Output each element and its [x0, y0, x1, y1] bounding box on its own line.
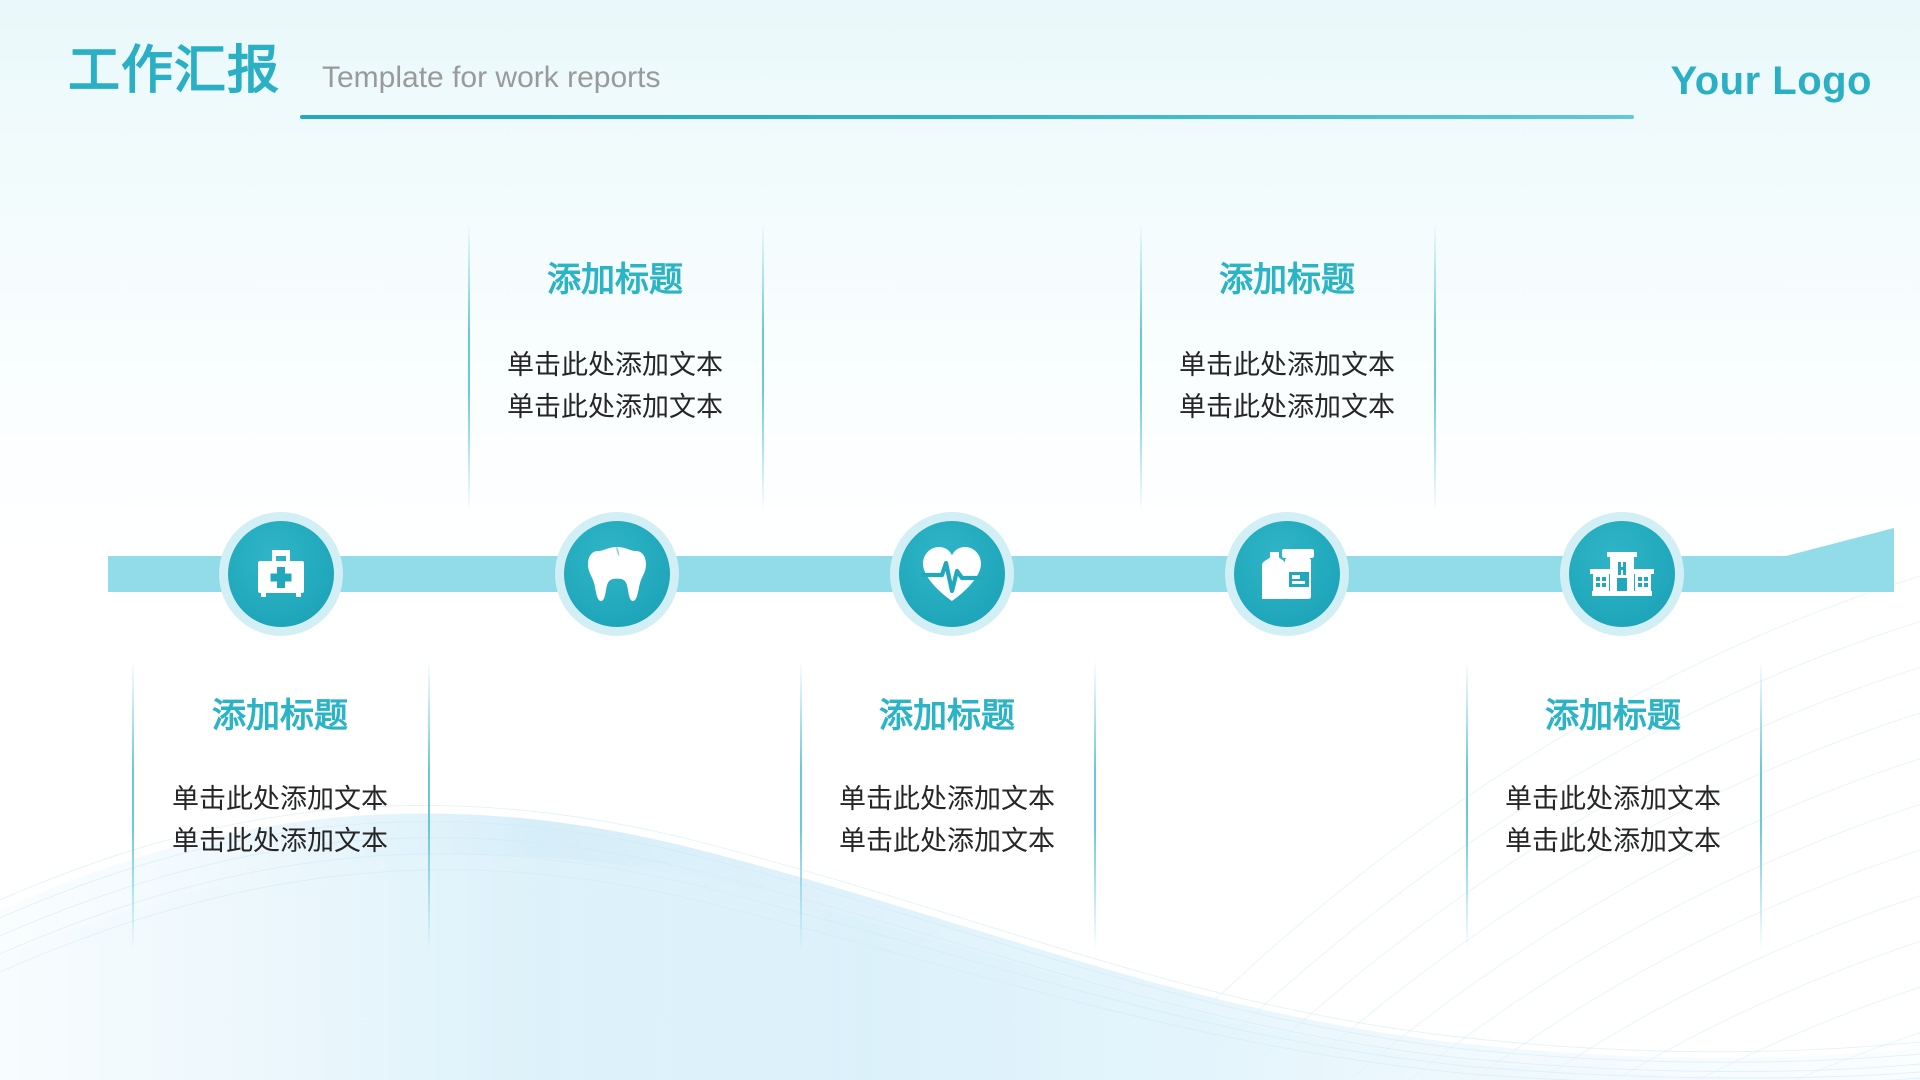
heart-pulse-icon: [899, 521, 1005, 627]
block-body-line-1: 单击此处添加文本: [1466, 778, 1760, 820]
block-body-line-1: 单击此处添加文本: [132, 778, 428, 820]
block-body-line-2: 单击此处添加文本: [468, 386, 762, 428]
block-body-line-2: 单击此处添加文本: [800, 820, 1094, 862]
block-body-line-2: 单击此处添加文本: [132, 820, 428, 862]
content-block-lower-1[interactable]: 添加标题 单击此处添加文本 单击此处添加文本: [132, 694, 428, 862]
block-title: 添加标题: [1466, 694, 1760, 738]
content-block-lower-2[interactable]: 添加标题 单击此处添加文本 单击此处添加文本: [800, 694, 1094, 862]
content-block-upper-2[interactable]: 添加标题 单击此处添加文本 单击此处添加文本: [1140, 258, 1434, 428]
block-body-line-2: 单击此处添加文本: [1466, 820, 1760, 862]
divider-top-4: [1434, 222, 1436, 512]
divider-bottom-2: [428, 660, 430, 950]
hospital-building-icon: [1569, 521, 1675, 627]
divider-bottom-6: [1760, 660, 1762, 950]
logo-placeholder: Your Logo: [1671, 56, 1873, 106]
tooth-icon: [564, 521, 670, 627]
slide-header: 工作汇报 Template for work reports Your Logo: [0, 0, 1920, 145]
slide-canvas: 工作汇报 Template for work reports Your Logo…: [0, 0, 1920, 1080]
block-body-line-1: 单击此处添加文本: [1140, 344, 1434, 386]
block-body-line-2: 单击此处添加文本: [1140, 386, 1434, 428]
block-title: 添加标题: [468, 258, 762, 302]
content-block-lower-3[interactable]: 添加标题 单击此处添加文本 单击此处添加文本: [1466, 694, 1760, 862]
header-divider-rule: [300, 115, 1634, 119]
timeline-node-1[interactable]: [219, 512, 343, 636]
timeline-node-3[interactable]: [890, 512, 1014, 636]
block-body-line-1: 单击此处添加文本: [468, 344, 762, 386]
divider-top-2: [762, 222, 764, 512]
divider-bottom-4: [1094, 660, 1096, 950]
timeline-arrow-icon: [1786, 524, 1916, 594]
block-title: 添加标题: [800, 694, 1094, 738]
page-title: 工作汇报: [68, 40, 280, 102]
medical-bag-icon: [228, 521, 334, 627]
block-body-line-1: 单击此处添加文本: [800, 778, 1094, 820]
timeline-node-4[interactable]: [1225, 512, 1349, 636]
timeline-node-5[interactable]: [1560, 512, 1684, 636]
page-subtitle: Template for work reports: [322, 58, 660, 98]
content-block-upper-1[interactable]: 添加标题 单击此处添加文本 单击此处添加文本: [468, 258, 762, 428]
medicine-bottle-icon: [1234, 521, 1340, 627]
timeline-node-2[interactable]: [555, 512, 679, 636]
block-title: 添加标题: [132, 694, 428, 738]
block-title: 添加标题: [1140, 258, 1434, 302]
